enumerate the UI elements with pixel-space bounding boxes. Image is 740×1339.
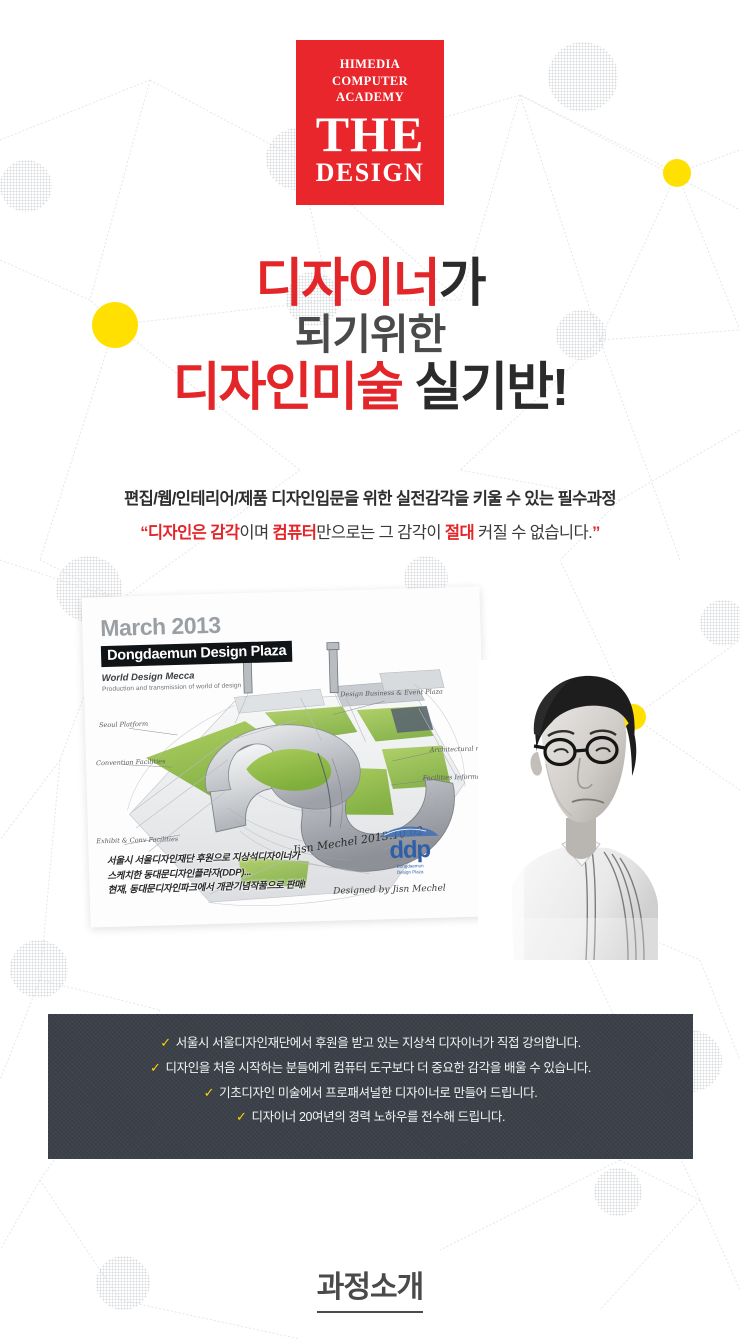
subtitle-line-1: 편집/웹/인테리어/제품 디자인입문을 위한 실전감각을 키울 수 있는 필수과… (0, 485, 740, 509)
check-icon: ✓ (236, 1109, 247, 1124)
decor-dot-circle (10, 940, 68, 998)
feature-item-label: 디자인을 처음 시작하는 분들에게 컴퓨터 도구보다 더 중요한 감각을 배울 … (166, 1061, 591, 1075)
headline-line-3-red: 디자인미술 (173, 359, 402, 417)
headline-line-1-dark: 가 (439, 255, 485, 313)
ddp-subtext: Dongdaemun Design Plaza (379, 863, 441, 876)
subtitle-emphasis-2: 컴퓨터 (273, 524, 317, 542)
feature-item-label: 기초디자인 미술에서 프로패셔널한 디자이너로 만들어 드립니다. (219, 1086, 537, 1100)
subtitle-close-quote: ” (592, 524, 600, 542)
check-icon: ✓ (204, 1085, 215, 1100)
ddp-logo: ddp Dongdaemun Design Plaza (378, 824, 441, 875)
subtitle-text-3: 커질 수 없습니다. (474, 524, 592, 542)
subtitle-text-1: 이며 (239, 524, 272, 542)
logo-line-himedia: HIMEDIA (296, 56, 444, 73)
ddp-sketch-poster[interactable]: March 2013 Dongdaemun Design Plaza World… (81, 587, 488, 928)
sketch-note-seoul-platform: Seoul Platform (99, 720, 148, 729)
feature-item: ✓기초디자인 미술에서 프로패셔널한 디자이너로 만들어 드립니다. (48, 1086, 693, 1101)
feature-item: ✓서울시 서울디자인재단에서 후원을 받고 있는 지상석 디자이너가 직접 강의… (48, 1036, 693, 1051)
decor-dot-circle (700, 600, 740, 646)
instructor-portrait (478, 660, 660, 960)
section-heading: 과정소개 (0, 1262, 740, 1313)
logo-word-the: THE (296, 110, 444, 158)
subtitle-block: 편집/웹/인테리어/제품 디자인입문을 위한 실전감각을 키울 수 있는 필수과… (0, 485, 740, 543)
headline-line-1-red: 디자이너 (255, 255, 438, 313)
brand-logo[interactable]: HIMEDIA COMPUTER ACADEMY THE DESIGN (296, 40, 444, 205)
headline-line-2: 되기위한 (0, 314, 740, 356)
logo-line-academy: ACADEMY (296, 89, 444, 106)
instructor-photo (478, 660, 660, 960)
feature-item: ✓디자이너 20여년의 경력 노하우를 전수해 드립니다. (48, 1110, 693, 1125)
section-heading-label: 과정소개 (317, 1262, 423, 1313)
feature-item-label: 서울시 서울디자인재단에서 후원을 받고 있는 지상석 디자이너가 직접 강의합… (176, 1036, 581, 1050)
subtitle-emphasis-3: 절대 (445, 524, 474, 542)
poster-month-label: March 2013 (100, 608, 351, 642)
poster-title-label: Dongdaemun Design Plaza (101, 641, 293, 667)
feature-item: ✓디자인을 처음 시작하는 분들에게 컴퓨터 도구보다 더 중요한 감각을 배울… (48, 1061, 693, 1076)
check-icon: ✓ (150, 1060, 161, 1075)
poster-caption: 서울시 서울디자인재단 후원으로 지상석디자이너가 스케치한 동대문디자인플라자… (107, 849, 306, 899)
ddp-wordmark: ddp (378, 838, 441, 864)
headline-line-3: 디자인미술 실기반! (0, 362, 740, 414)
subtitle-open-quote: “ (140, 524, 148, 542)
features-panel: ✓서울시 서울디자인재단에서 후원을 받고 있는 지상석 디자이너가 직접 강의… (48, 1014, 693, 1159)
check-icon: ✓ (160, 1035, 171, 1050)
subtitle-emphasis-1: 디자인은 감각 (148, 524, 239, 542)
decor-dot-circle (594, 1168, 642, 1216)
poster-header: March 2013 Dongdaemun Design Plaza World… (100, 608, 352, 693)
logo-subtitle: HIMEDIA COMPUTER ACADEMY (296, 40, 444, 106)
logo-word-design: DESIGN (296, 159, 444, 186)
headline-line-1: 디자이너가 (0, 258, 740, 310)
decor-dot-circle (0, 160, 52, 212)
promo-page: HIMEDIA COMPUTER ACADEMY THE DESIGN 디자이너… (0, 0, 740, 1339)
subtitle-line-2: “디자인은 감각이며 컴퓨터만으로는 그 감각이 절대 커질 수 없습니다.” (0, 519, 740, 543)
subtitle-text-2: 만으로는 그 감각이 (316, 524, 445, 542)
decor-yellow-dot (663, 159, 691, 187)
decor-dot-circle (548, 42, 618, 112)
feature-item-label: 디자이너 20여년의 경력 노하우를 전수해 드립니다. (251, 1110, 505, 1124)
headline-line-3-dark: 실기반! (402, 359, 567, 417)
page-title: 디자이너가 되기위한 디자인미술 실기반! (0, 258, 740, 414)
logo-line-computer: COMPUTER (296, 73, 444, 90)
